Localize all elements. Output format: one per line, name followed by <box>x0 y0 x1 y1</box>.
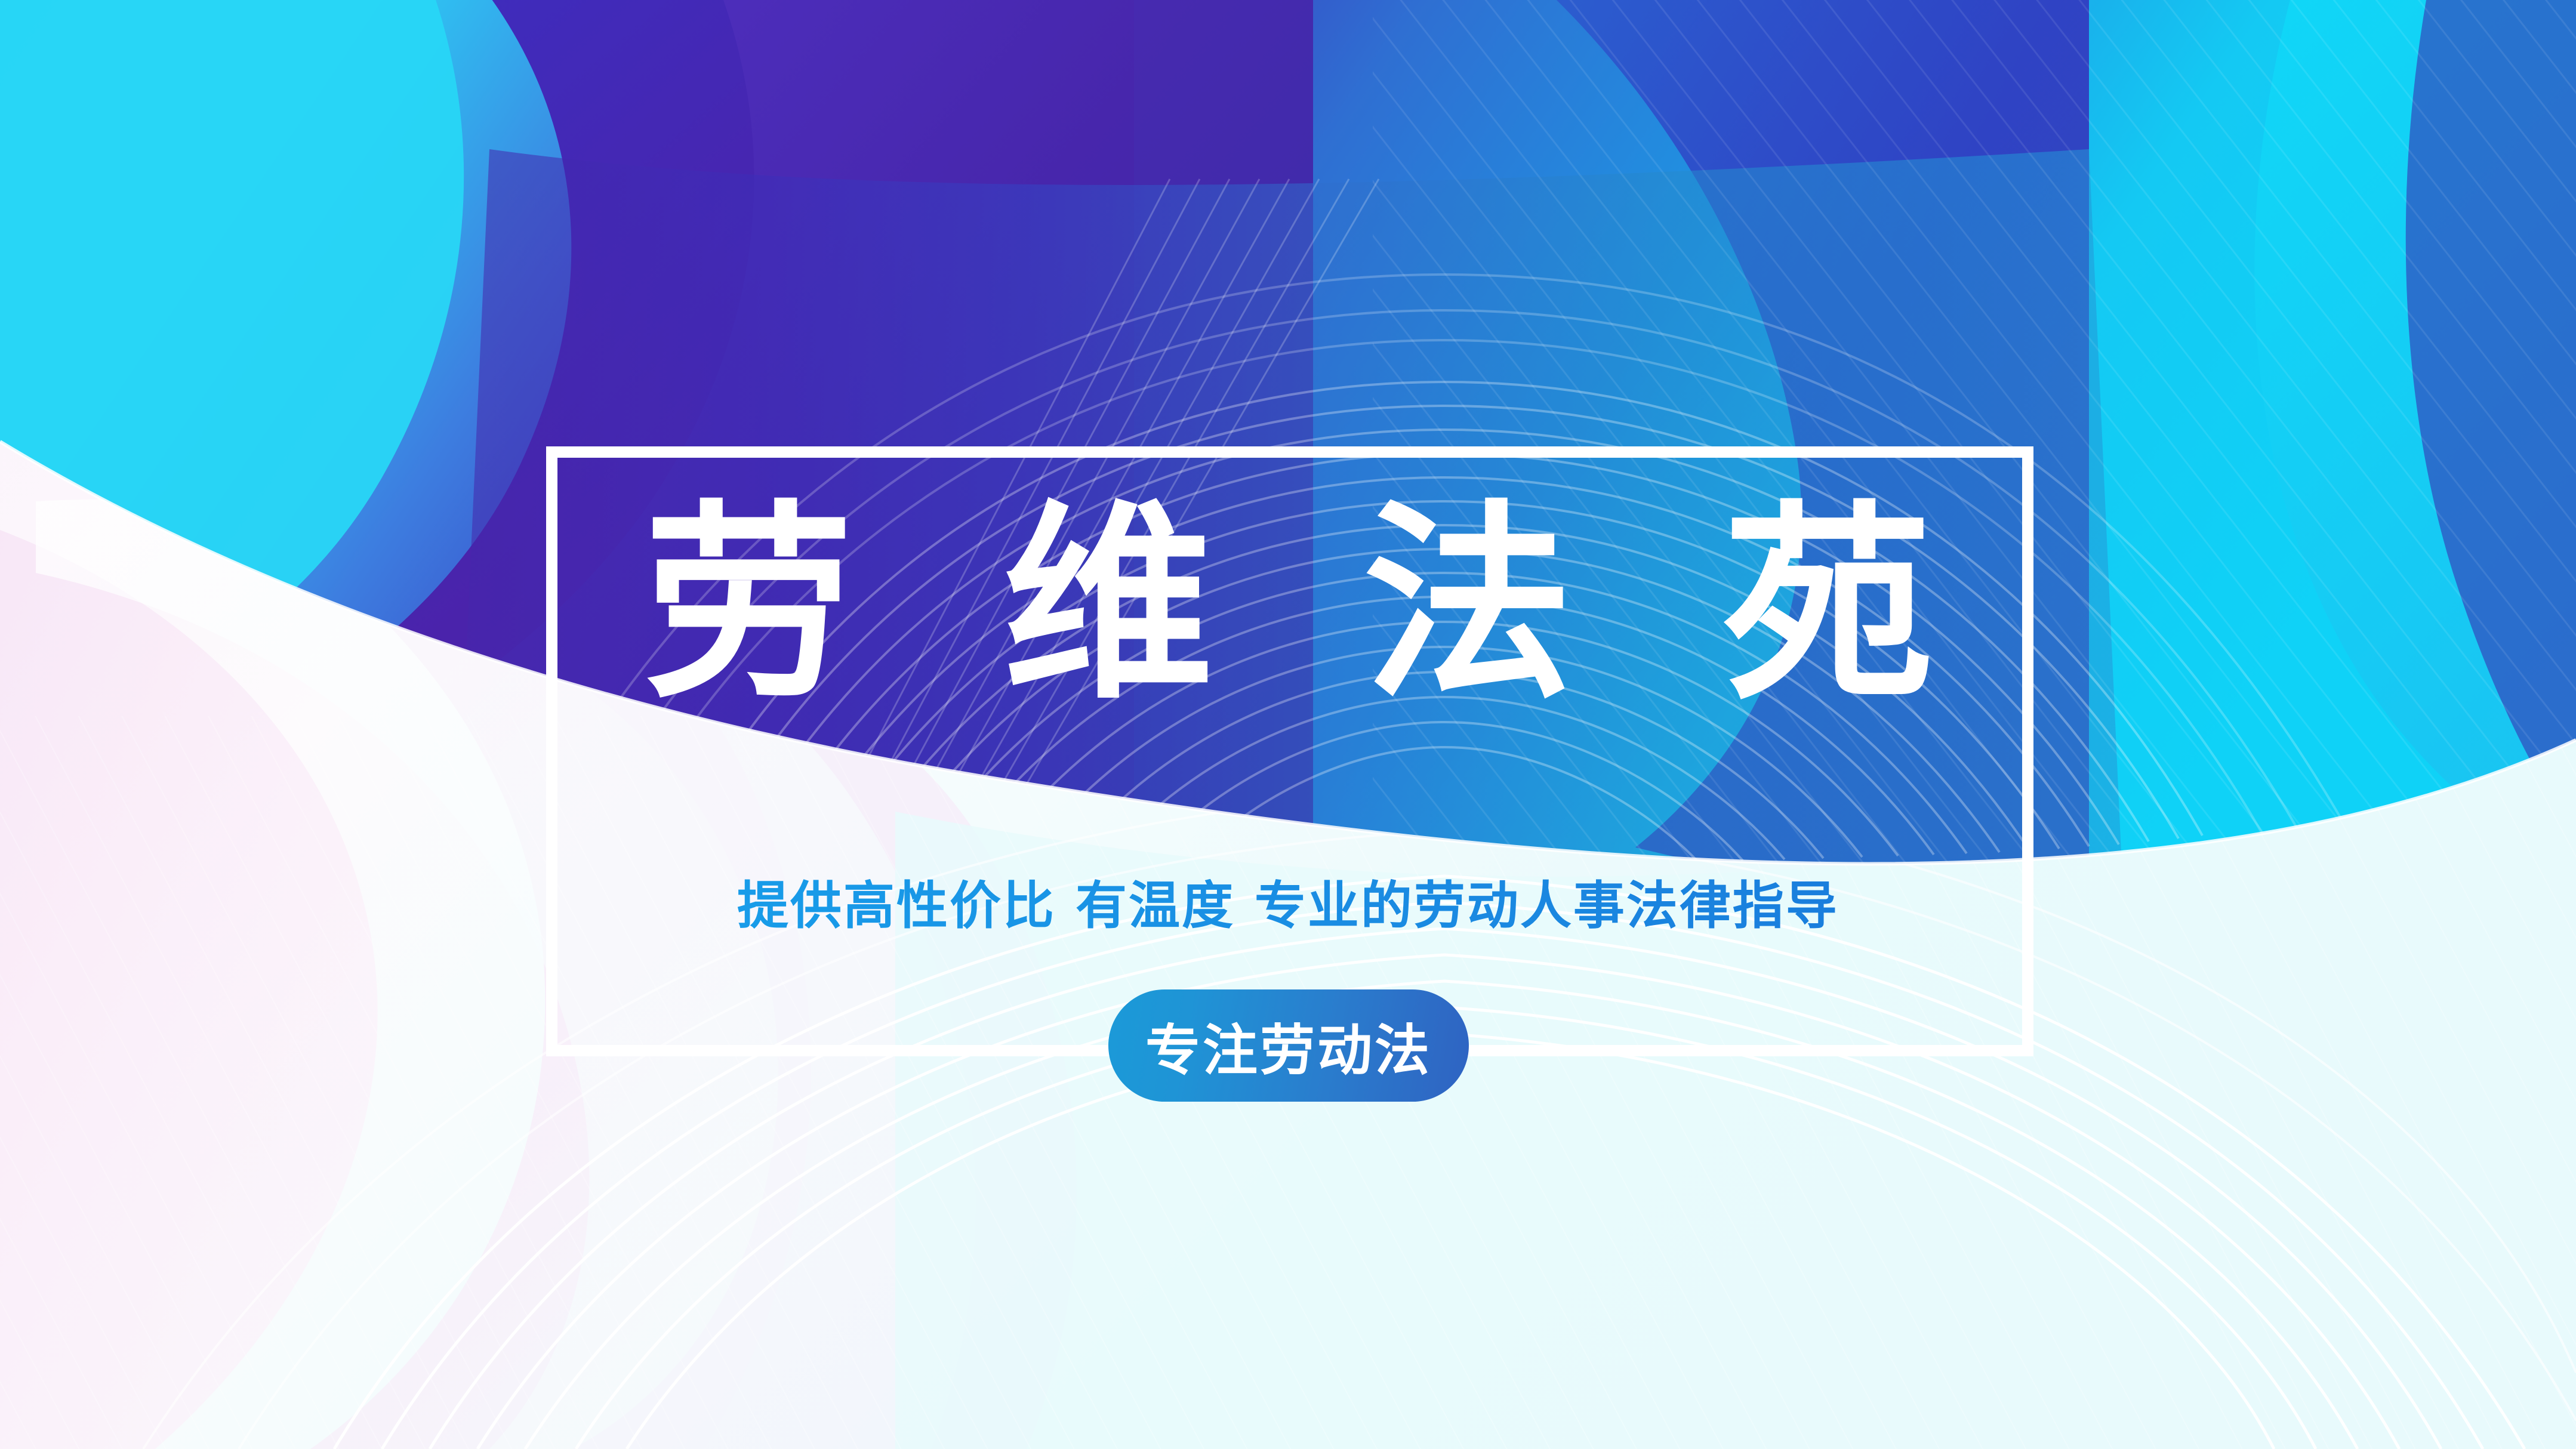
focus-badge[interactable]: 专注劳动法 <box>1108 989 1469 1102</box>
subtitle-tagline: 提供高性价比 有温度 专业的劳动人事法律指导 <box>0 875 2576 938</box>
promotional-banner: 劳 维 法 苑 提供高性价比 有温度 专业的劳动人事法律指导 专注劳动法 <box>0 0 2576 1449</box>
focus-badge-label: 专注劳动法 <box>1145 1006 1432 1086</box>
page-title: 劳 维 法 苑 <box>0 500 2576 710</box>
